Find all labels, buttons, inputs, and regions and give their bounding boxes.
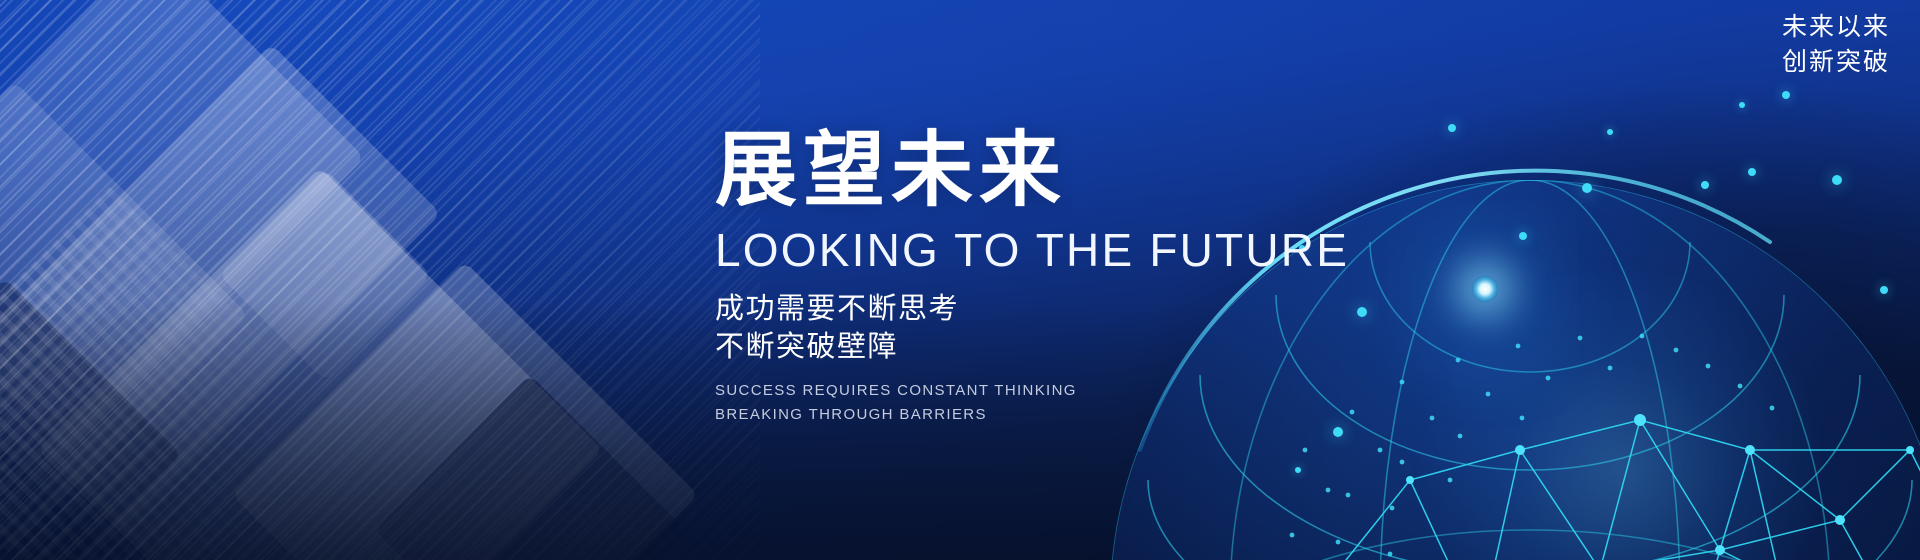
subtitle-en-line-1: SUCCESS REQUIRES CONSTANT THINKING	[715, 379, 1375, 403]
particle-dot	[1880, 286, 1888, 294]
corner-slogan-line-1: 未来以来	[1782, 10, 1890, 45]
subtitle-cn-line-1: 成功需要不断思考	[715, 290, 1375, 328]
particle-dot	[1448, 124, 1456, 132]
banner-root: 展望未来 LOOKING TO THE FUTURE 成功需要不断思考 不断突破…	[0, 0, 1920, 560]
headline-block: 展望未来 LOOKING TO THE FUTURE 成功需要不断思考 不断突破…	[715, 128, 1375, 428]
particle-dot	[1748, 168, 1756, 176]
page-title-en: LOOKING TO THE FUTURE	[715, 223, 1375, 277]
subtitle-cn-line-2: 不断突破壁障	[715, 328, 1375, 366]
globe-atmosphere-glow	[1410, 260, 1830, 560]
diagonal-hairlines-tight	[0, 0, 760, 560]
particle-dot	[1701, 181, 1709, 189]
particle-dot	[1333, 427, 1343, 437]
particle-dot	[1582, 183, 1592, 193]
globe-light-flare	[1472, 276, 1498, 302]
subtitle-en-line-2: BREAKING THROUGH BARRIERS	[715, 403, 1375, 427]
page-title-cn: 展望未来	[715, 128, 1375, 213]
particle-dot	[1519, 232, 1527, 240]
particle-dot	[1607, 129, 1613, 135]
particle-dot	[1782, 91, 1790, 99]
particle-dot	[1739, 102, 1745, 108]
corner-slogan-line-2: 创新突破	[1782, 45, 1890, 80]
particle-dot	[1295, 467, 1301, 473]
corner-slogan: 未来以来 创新突破	[1782, 10, 1890, 79]
subtitle-cn: 成功需要不断思考 不断突破壁障	[715, 290, 1375, 367]
particle-dot	[1832, 175, 1842, 185]
abstract-geometry-layer	[0, 0, 760, 560]
subtitle-en: SUCCESS REQUIRES CONSTANT THINKING BREAK…	[715, 379, 1375, 428]
